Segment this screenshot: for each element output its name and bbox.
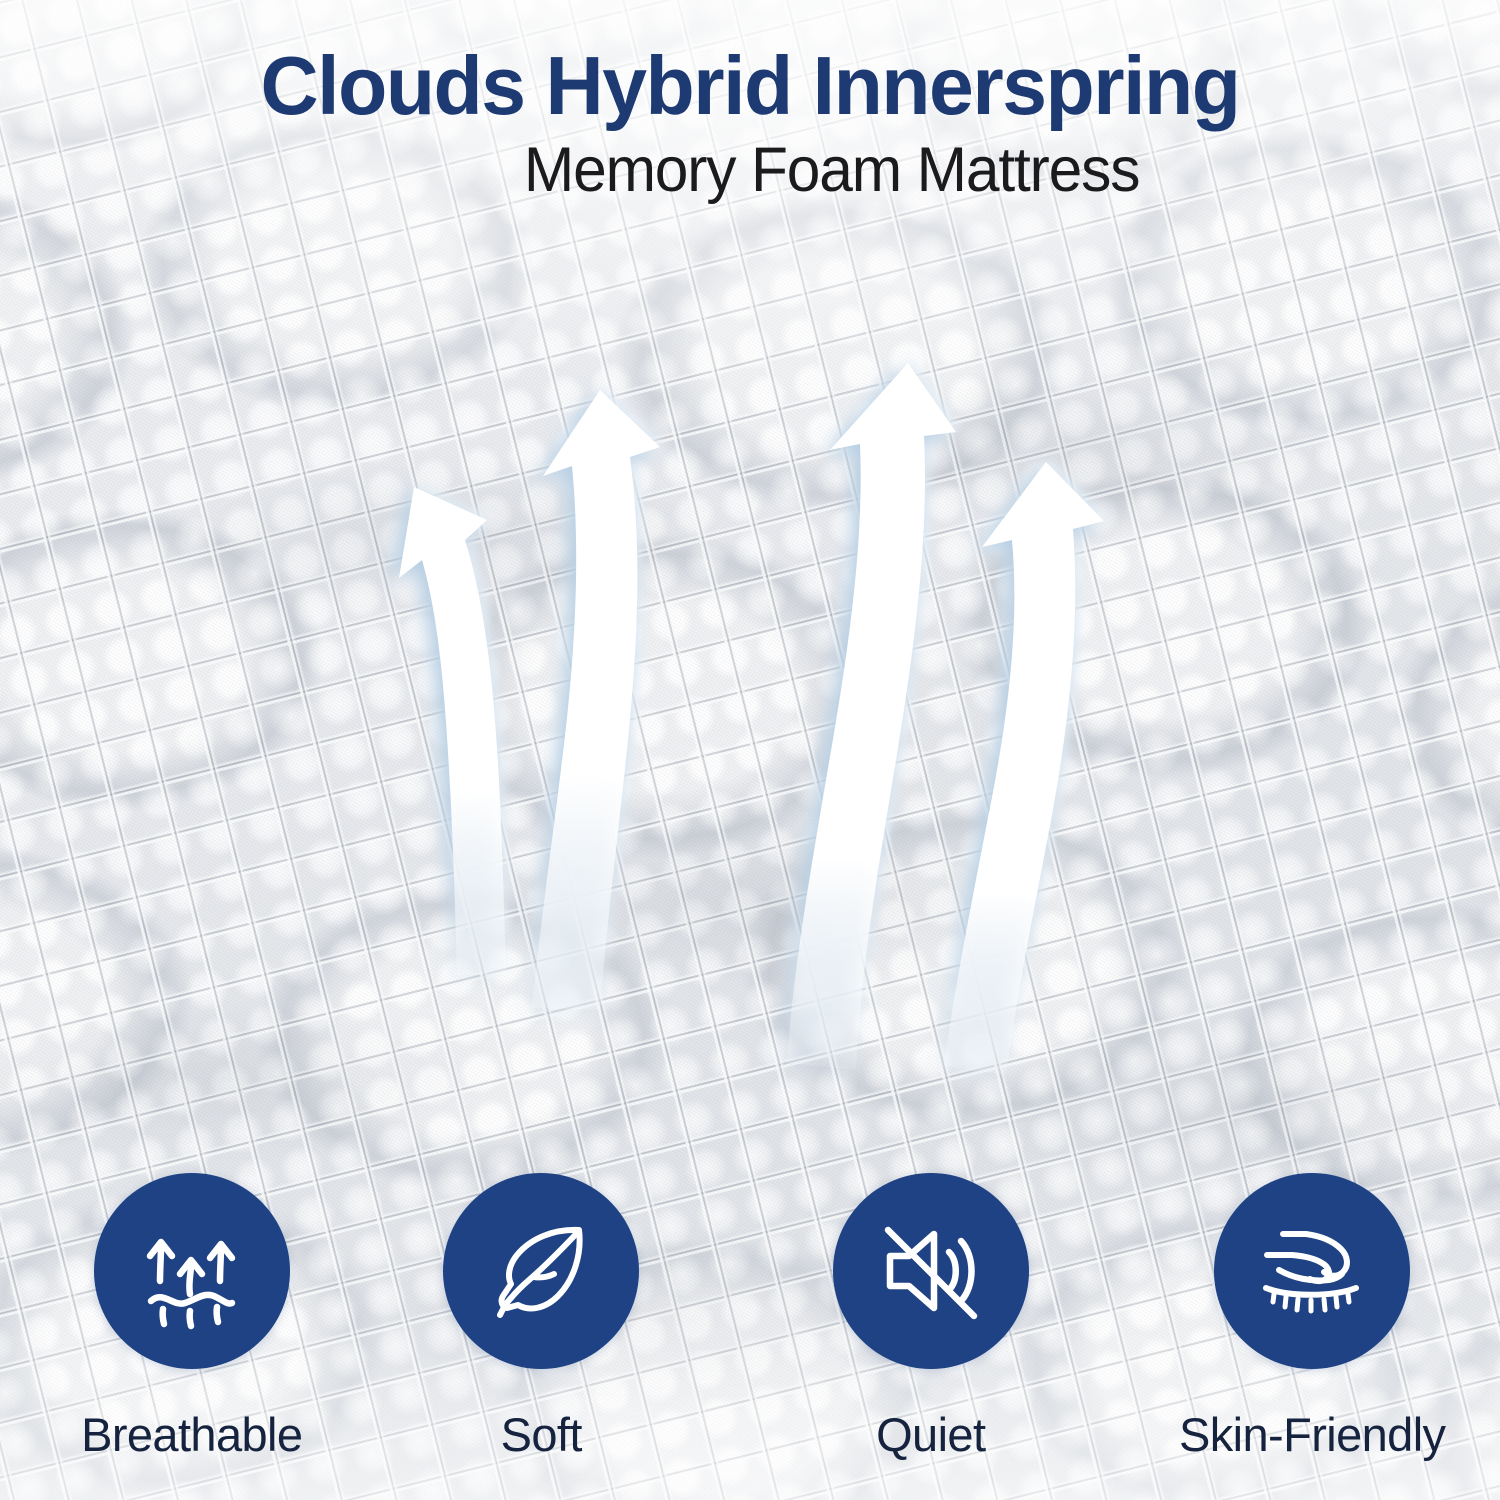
feature-item-quiet: Quiet	[743, 1173, 1119, 1462]
badge-circle-soft	[443, 1173, 639, 1369]
feature-item-skin-friendly: Skin-Friendly	[1125, 1173, 1500, 1462]
feature-label-breathable: Breathable	[81, 1407, 302, 1462]
page-subtitle: Memory Foam Mattress	[30, 127, 1470, 202]
heading-block: Clouds Hybrid Innerspring Memory Foam Ma…	[0, 0, 1500, 202]
muted-speaker-icon	[868, 1208, 994, 1334]
page-title: Clouds Hybrid Innerspring	[23, 0, 1478, 127]
feature-item-soft: Soft	[354, 1173, 730, 1462]
hand-over-fabric-icon	[1249, 1208, 1375, 1334]
feature-label-skin-friendly: Skin-Friendly	[1179, 1407, 1445, 1462]
badge-circle-quiet	[833, 1173, 1029, 1369]
feature-item-breathable: Breathable	[4, 1173, 380, 1462]
feature-label-quiet: Quiet	[876, 1407, 985, 1462]
feather-icon	[478, 1208, 604, 1334]
airflow-arrow-2	[532, 390, 660, 1010]
feature-label-soft: Soft	[501, 1407, 582, 1462]
product-feature-image: Clouds Hybrid Innerspring Memory Foam Ma…	[0, 0, 1500, 1500]
badge-circle-skin-friendly	[1214, 1173, 1410, 1369]
airflow-arrow-4	[944, 462, 1104, 1075]
badge-circle-breathable	[94, 1173, 290, 1369]
airflow-arrow-3	[787, 363, 956, 1070]
airflow-arrow-1	[399, 487, 506, 975]
feature-badge-row: Breathable Soft	[0, 1173, 1500, 1462]
breathable-airflow-icon	[129, 1208, 255, 1334]
